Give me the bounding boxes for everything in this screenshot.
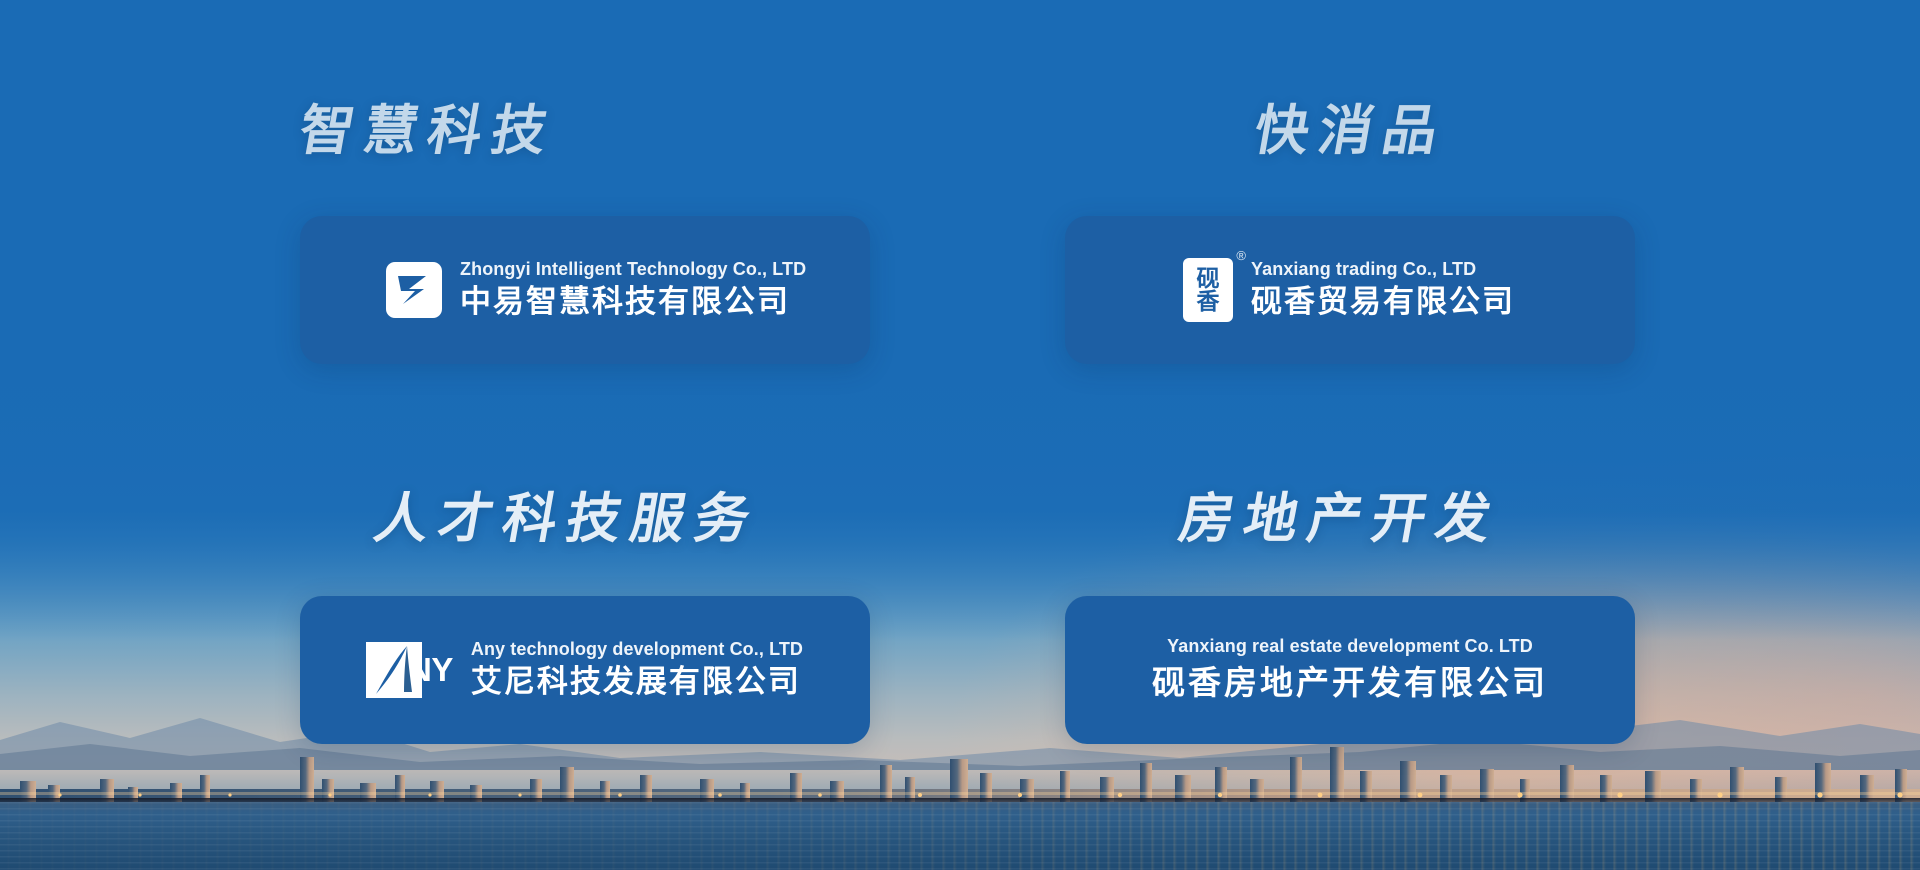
company-card-content: NY Any technology development Co., LTD 艾…	[366, 638, 803, 703]
company-name-cn: 中易智慧科技有限公司	[460, 282, 806, 322]
company-card-content: Zhongyi Intelligent Technology Co., LTD …	[386, 258, 806, 323]
company-name-en: Yanxiang real estate development Co. LTD	[1167, 635, 1533, 658]
company-card-zhongyi[interactable]: Zhongyi Intelligent Technology Co., LTD …	[300, 216, 870, 364]
section-title-smart-technology: 智慧科技	[295, 104, 561, 158]
seal-char-top: 砚	[1197, 267, 1220, 290]
any-logo-icon: NY	[366, 642, 453, 698]
company-name-cn: 艾尼科技发展有限公司	[471, 662, 803, 702]
segment-fmcg: 快消品	[1255, 104, 1447, 158]
section-title-real-estate: 房地产开发	[1175, 492, 1505, 546]
seal-char-bottom: 香	[1197, 290, 1220, 313]
company-name-block: Yanxiang trading Co., LTD 砚香贸易有限公司	[1251, 258, 1515, 323]
company-name-block: Yanxiang real estate development Co. LTD…	[1152, 635, 1548, 704]
company-card-content: 砚 香 ® Yanxiang trading Co., LTD 砚香贸易有限公司	[1183, 258, 1515, 323]
company-name-en: Any technology development Co., LTD	[471, 638, 803, 661]
section-title-talent-service: 人才科技服务	[370, 492, 764, 546]
company-card-any-technology[interactable]: NY Any technology development Co., LTD 艾…	[300, 596, 870, 744]
company-name-en: Zhongyi Intelligent Technology Co., LTD	[460, 258, 806, 281]
company-name-cn: 砚香房地产开发有限公司	[1152, 662, 1548, 705]
hero-banner: 智慧科技 Zhongyi Intelligent Technology Co.,…	[0, 0, 1920, 870]
segment-talent-service: 人才科技服务	[375, 492, 759, 546]
company-name-block: Zhongyi Intelligent Technology Co., LTD …	[460, 258, 806, 323]
segment-smart-technology: 智慧科技	[300, 104, 556, 158]
registered-trademark-icon: ®	[1236, 249, 1246, 262]
segment-real-estate: 房地产开发	[1180, 492, 1500, 546]
company-name-block: Any technology development Co., LTD 艾尼科技…	[471, 638, 803, 703]
segments-grid: 智慧科技 Zhongyi Intelligent Technology Co.,…	[0, 0, 1920, 870]
zhongyi-logo-icon	[386, 262, 442, 318]
company-card-yanxiang-real-estate[interactable]: Yanxiang real estate development Co. LTD…	[1065, 596, 1635, 744]
section-title-fmcg: 快消品	[1250, 104, 1452, 158]
company-name-en: Yanxiang trading Co., LTD	[1251, 258, 1515, 281]
company-name-cn: 砚香贸易有限公司	[1251, 282, 1515, 322]
company-card-content: Yanxiang real estate development Co. LTD…	[1152, 635, 1548, 704]
yanxiang-seal-logo-icon: 砚 香 ®	[1183, 258, 1233, 322]
company-card-yanxiang-trading[interactable]: 砚 香 ® Yanxiang trading Co., LTD 砚香贸易有限公司	[1065, 216, 1635, 364]
